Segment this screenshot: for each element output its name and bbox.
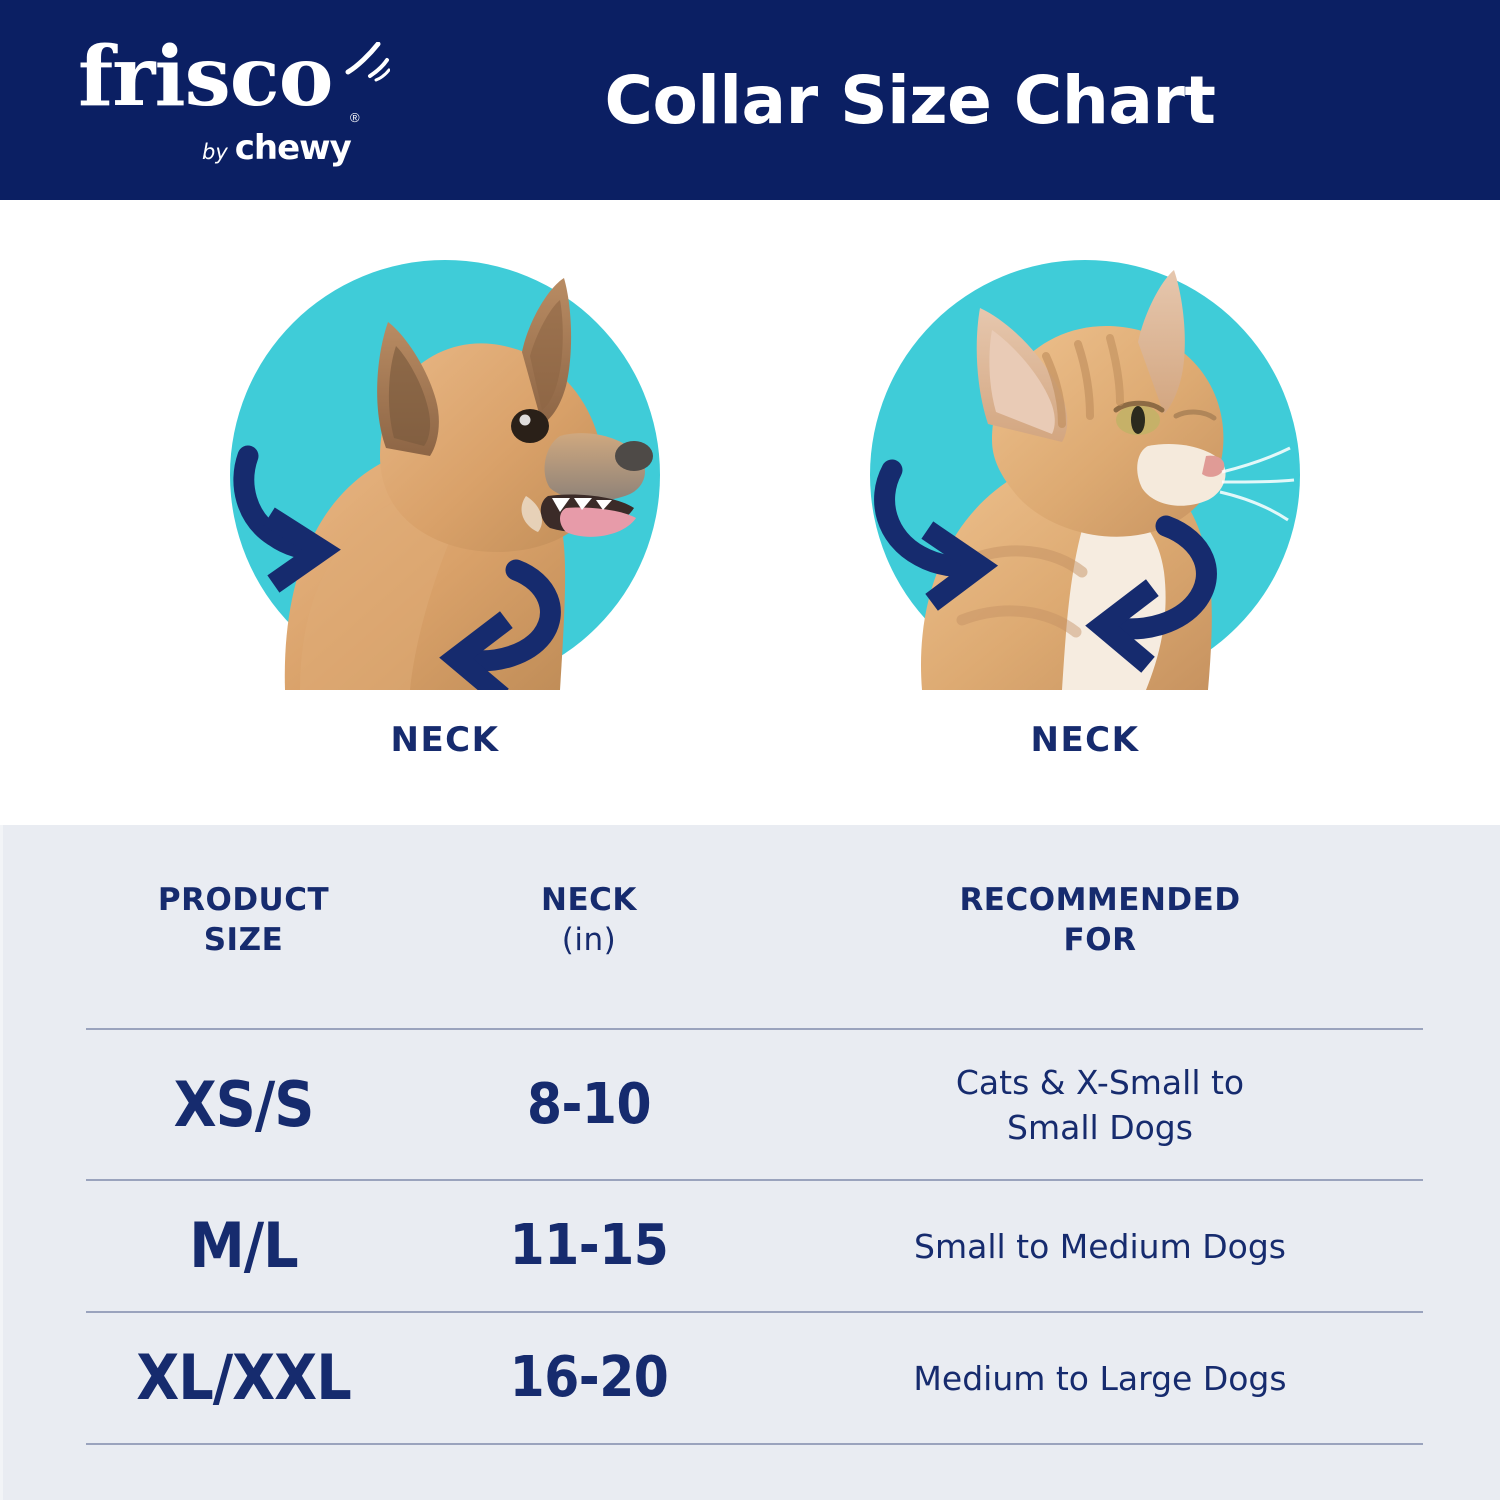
frisco-logo: frisco ® by chewy (78, 36, 378, 164)
cell-product-size: XL/XXL (86, 1345, 401, 1411)
cell-recommended-for: Small to Medium Dogs (777, 1224, 1423, 1269)
cell-product-size: XS/S (86, 1072, 401, 1138)
cell-recommended-for-line1: Cats & X-Small to (777, 1060, 1423, 1105)
page-title: Collar Size Chart (400, 0, 1500, 200)
size-table-section: PRODUCT SIZE NECK (in) RECOMMENDED FOR X… (0, 825, 1500, 1500)
column-header-neck: NECK (in) (401, 880, 777, 960)
column-header-recommended-for: RECOMMENDED FOR (777, 880, 1423, 960)
size-table: PRODUCT SIZE NECK (in) RECOMMENDED FOR X… (86, 825, 1423, 1445)
illustration-section: NECK (0, 200, 1500, 825)
dog-neck-label: NECK (230, 720, 660, 760)
chewy-wordmark: chewy (235, 128, 351, 168)
cell-recommended-for-line2: Small Dogs (777, 1105, 1423, 1150)
brand-byline-prefix: by (202, 140, 228, 164)
table-row: M/L 11-15 Small to Medium Dogs (86, 1181, 1423, 1311)
dog-neck-measure-arrow-icon (230, 260, 660, 690)
column-header-recommended-for-line1: RECOMMENDED (777, 880, 1423, 920)
brand-byline: by chewy (202, 128, 351, 168)
dog-illustration-block: NECK (220, 200, 860, 825)
registered-trademark-icon: ® (350, 110, 360, 125)
table-row: XL/XXL 16-20 Medium to Large Dogs (86, 1313, 1423, 1443)
cell-product-size: M/L (86, 1213, 401, 1279)
table-header-row: PRODUCT SIZE NECK (in) RECOMMENDED FOR (86, 825, 1423, 1028)
cell-recommended-for: Medium to Large Dogs (777, 1356, 1423, 1401)
cat-illustration-block: NECK (870, 200, 1500, 825)
cell-recommended-for: Cats & X-Small to Small Dogs (777, 1060, 1423, 1150)
cat-neck-label: NECK (870, 720, 1300, 760)
column-header-neck-unit: (in) (401, 920, 777, 960)
column-header-neck-line1: NECK (401, 880, 777, 920)
cell-neck: 16-20 (401, 1348, 777, 1408)
cat-neck-measure-arrow-icon (870, 260, 1300, 690)
table-row: XS/S 8-10 Cats & X-Small to Small Dogs (86, 1030, 1423, 1179)
collar-size-chart-page: frisco ® by chewy Collar Size Chart (0, 0, 1500, 1500)
cell-neck: 11-15 (401, 1216, 777, 1276)
swoosh-icon (340, 42, 390, 82)
header-bar: frisco ® by chewy Collar Size Chart (0, 0, 1500, 200)
column-header-product-size-line2: SIZE (86, 920, 401, 960)
table-divider (86, 1443, 1423, 1445)
column-header-product-size: PRODUCT SIZE (86, 880, 401, 960)
dog-illustration (230, 260, 660, 690)
cell-neck: 8-10 (401, 1075, 777, 1135)
column-header-recommended-for-line2: FOR (777, 920, 1423, 960)
brand-wordmark: frisco (78, 36, 332, 118)
cat-illustration (870, 260, 1300, 690)
column-header-product-size-line1: PRODUCT (86, 880, 401, 920)
